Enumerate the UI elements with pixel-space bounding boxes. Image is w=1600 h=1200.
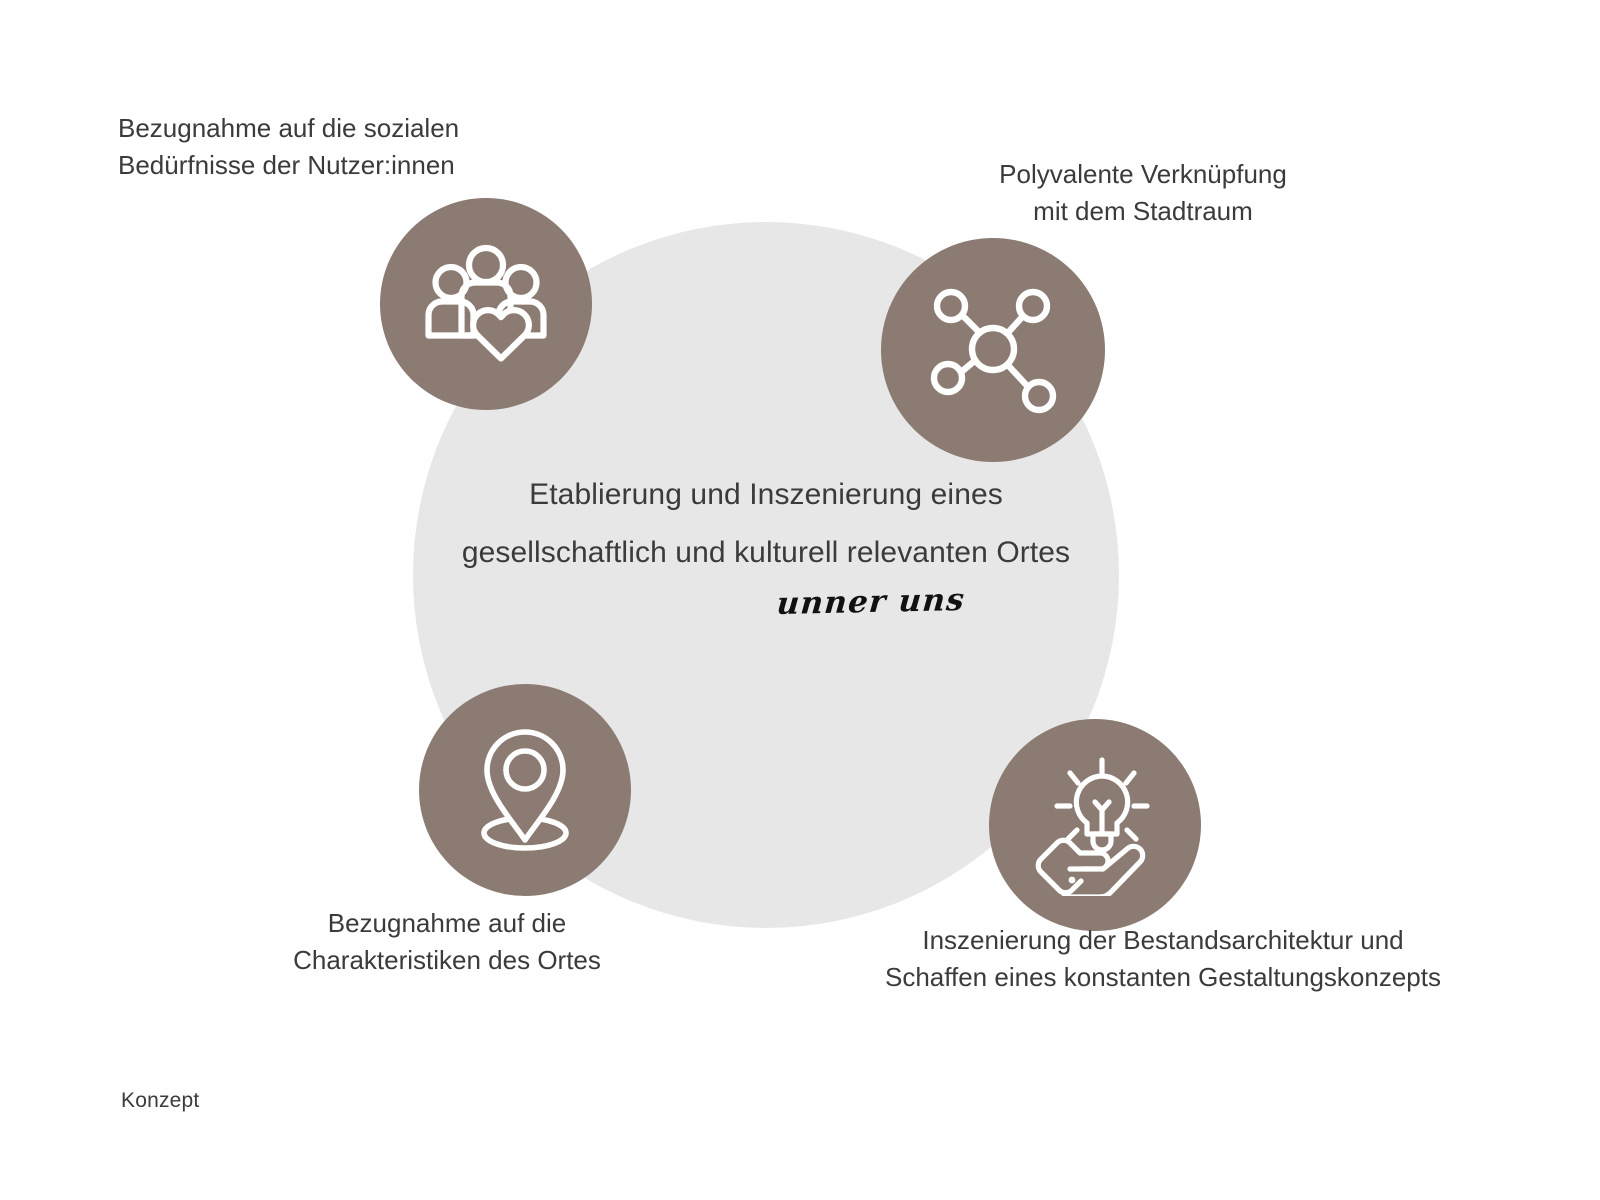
script-wordmark: unner uns: [775, 582, 966, 622]
node-circle-social[interactable]: [380, 198, 592, 410]
center-statement-line-2: gesellschaftlich und kulturell relevante…: [413, 538, 1119, 568]
network-nodes-icon: [920, 277, 1066, 423]
script-wordmark-wrap: unner uns: [413, 584, 1119, 620]
node-label-design-line-2: Schaffen eines konstanten Gestaltungskon…: [885, 959, 1441, 996]
people-heart-icon: [420, 238, 552, 370]
node-label-network-line-1: Polyvalente Verknüpfung: [999, 156, 1287, 193]
center-statement-line-1: Etablierung und Inszenierung eines: [413, 480, 1119, 510]
concept-diagram-canvas: Etablierung und Inszenierung eines gesel…: [0, 0, 1600, 1200]
center-statement: Etablierung und Inszenierung eines gesel…: [413, 480, 1119, 620]
node-label-place-line-1: Bezugnahme auf die: [293, 905, 601, 942]
node-label-place: Bezugnahme auf die Charakteristiken des …: [293, 905, 601, 979]
slide-footer-label: Konzept: [121, 1089, 199, 1113]
node-label-network: Polyvalente Verknüpfung mit dem Stadtrau…: [999, 156, 1287, 230]
map-pin-icon: [458, 723, 592, 857]
node-label-network-line-2: mit dem Stadtraum: [999, 193, 1287, 230]
node-circle-place[interactable]: [419, 684, 631, 896]
node-label-social-line-2: Bedürfnisse der Nutzer:innen: [118, 147, 459, 184]
node-circle-network[interactable]: [881, 238, 1105, 462]
node-circle-design[interactable]: [989, 719, 1201, 931]
node-label-place-line-2: Charakteristiken des Ortes: [293, 942, 601, 979]
node-label-design: Inszenierung der Bestandsarchitektur und…: [885, 922, 1441, 996]
node-label-design-line-1: Inszenierung der Bestandsarchitektur und: [885, 922, 1441, 959]
node-label-social: Bezugnahme auf die sozialen Bedürfnisse …: [118, 110, 459, 184]
hand-lightbulb-icon: [1024, 754, 1166, 896]
node-label-social-line-1: Bezugnahme auf die sozialen: [118, 110, 459, 147]
